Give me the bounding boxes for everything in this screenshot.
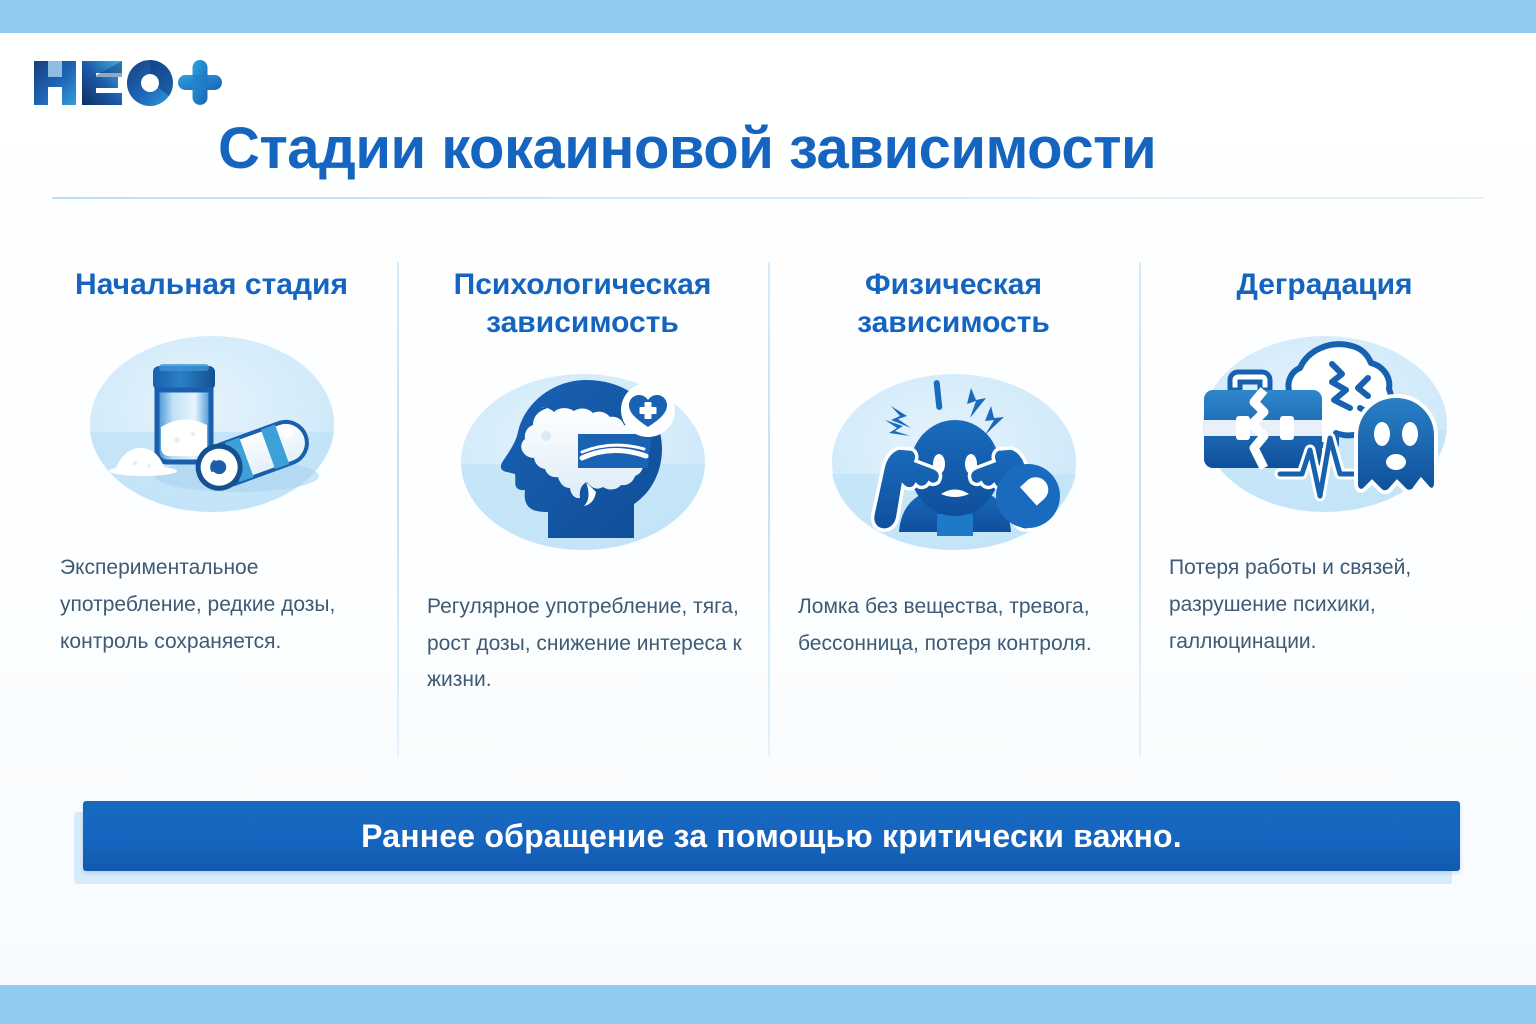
stage-description: Ломка без вещества, тревога, бессонница,… bbox=[782, 589, 1125, 663]
stage-column-psychological: Психологическая зависимость bbox=[397, 252, 768, 772]
call-to-action-banner: Раннее обращение за помощью критически в… bbox=[83, 801, 1460, 871]
stage-heading: Психологическая зависимость bbox=[433, 266, 733, 343]
stage-description: Потеря работы и связей, разрушение психи… bbox=[1153, 550, 1496, 660]
bottom-accent-band bbox=[0, 985, 1536, 1024]
stages-row: Начальная стадия bbox=[26, 252, 1510, 772]
stage-description: Экспериментальное употребление, редкие д… bbox=[40, 550, 383, 660]
stage-column-initial: Начальная стадия bbox=[26, 252, 397, 772]
stage-column-degradation: Деградация bbox=[1139, 252, 1510, 772]
infographic-page: Стадии кокаиновой зависимости Начальная … bbox=[0, 0, 1536, 1024]
stage-heading: Деградация bbox=[1236, 266, 1412, 304]
neo-plus-logo-icon bbox=[26, 55, 226, 111]
banner-text: Раннее обращение за помощью критически в… bbox=[361, 818, 1182, 855]
head-brain-craving-icon bbox=[457, 359, 709, 571]
withdrawal-headache-pill-icon bbox=[828, 359, 1080, 571]
broken-briefcase-cracked-brain-ghost-icon bbox=[1199, 320, 1451, 532]
powder-jar-rolled-bill-icon bbox=[86, 320, 338, 532]
stage-column-physical: Физическая зависимость bbox=[768, 252, 1139, 772]
page-title: Стадии кокаиновой зависимости bbox=[218, 119, 1318, 180]
brand-logo bbox=[26, 54, 226, 112]
top-accent-band bbox=[0, 0, 1536, 33]
stage-heading: Физическая зависимость bbox=[804, 266, 1104, 343]
stage-heading: Начальная стадия bbox=[75, 266, 348, 304]
stage-description: Регулярное употребление, тяга, рост дозы… bbox=[411, 589, 754, 699]
title-divider bbox=[52, 197, 1484, 199]
